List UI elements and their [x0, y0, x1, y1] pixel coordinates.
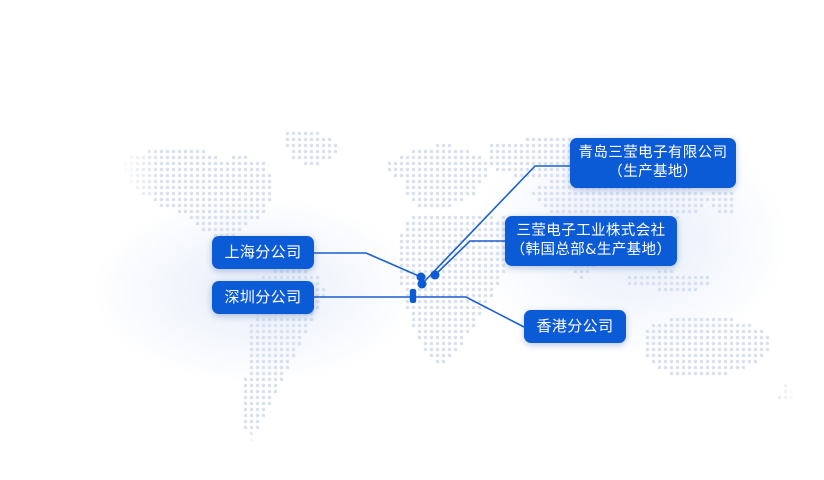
label-korea-line1: 三莹电子工业株式会社 [517, 222, 666, 241]
label-hongkong-text: 香港分公司 [536, 316, 613, 336]
label-korea-line2: （韩国总部&生产基地） [511, 241, 672, 260]
world-map-infographic: 青岛三莹电子有限公司 （生产基地） 三莹电子工业株式会社 （韩国总部&生产基地）… [0, 0, 824, 480]
label-qingdao-line1: 青岛三莹电子有限公司 [579, 144, 728, 163]
label-shenzhen-text: 深圳分公司 [224, 287, 301, 307]
label-shanghai-text: 上海分公司 [224, 242, 301, 262]
label-shenzhen[interactable]: 深圳分公司 [212, 281, 314, 314]
label-korea-hq[interactable]: 三莹电子工业株式会社 （韩国总部&生产基地） [505, 216, 677, 266]
label-qingdao-line2: （生产基地） [608, 163, 697, 182]
connector-shanghai [314, 253, 421, 277]
connector-hongkong [413, 297, 524, 327]
label-shanghai[interactable]: 上海分公司 [212, 236, 314, 269]
label-qingdao[interactable]: 青岛三莹电子有限公司 （生产基地） [570, 138, 736, 188]
connector-korea [435, 241, 505, 275]
map-marker-korea[interactable] [431, 271, 440, 280]
map-marker-hongkong[interactable] [410, 289, 416, 303]
label-hongkong[interactable]: 香港分公司 [524, 310, 626, 343]
connector-lines [0, 0, 824, 480]
map-marker-qingdao[interactable] [418, 280, 427, 289]
